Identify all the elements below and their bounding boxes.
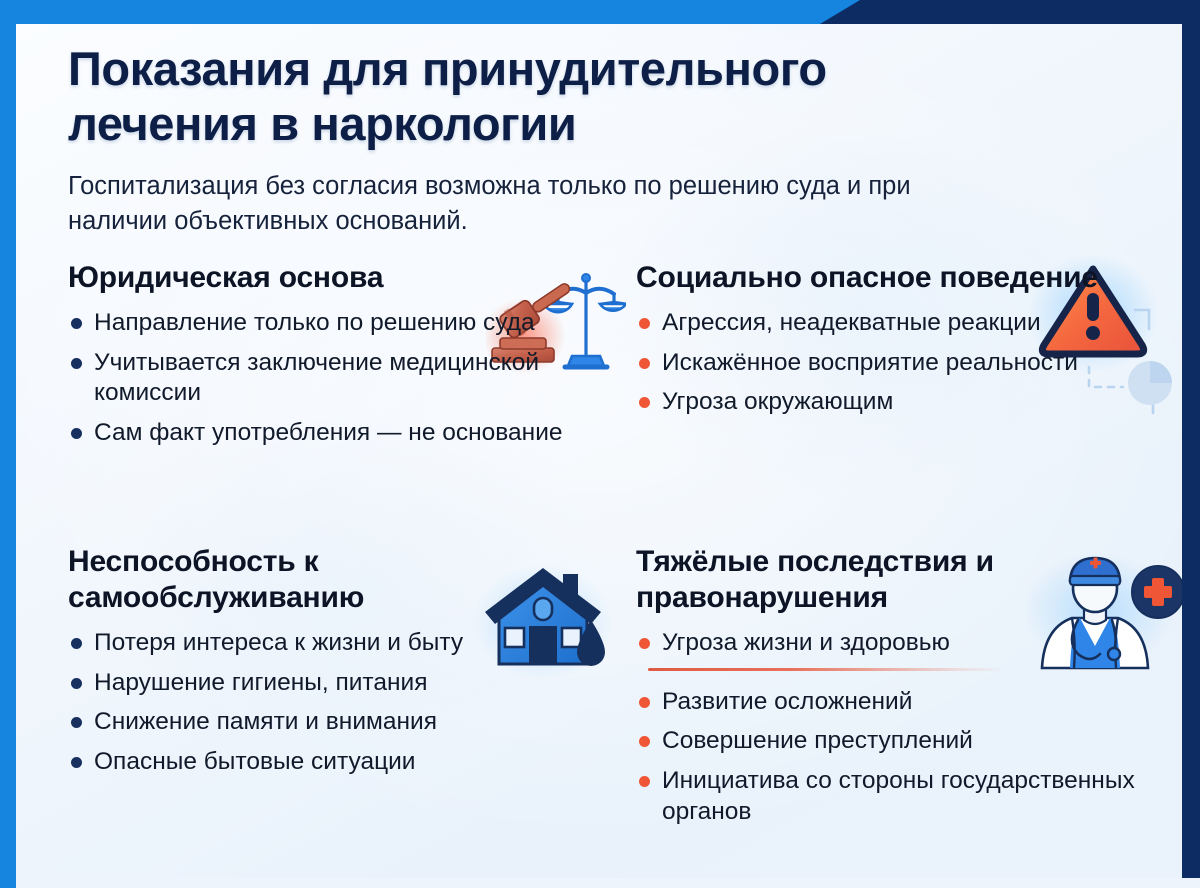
- section-divider: [648, 668, 1006, 671]
- section-bullet-list-continued: Развитие осложнений Совершение преступле…: [636, 687, 1176, 828]
- list-item: Развитие осложнений: [636, 687, 1176, 718]
- frame-top-accent-bar: [0, 0, 860, 24]
- list-item: Потеря интереса к жизни и быту: [68, 628, 588, 659]
- list-item: Направление только по решению суда: [68, 308, 588, 339]
- section-heading: Неспособность к самообслуживанию: [68, 544, 588, 616]
- section-bullet-list: Направление только по решению суда Учиты…: [68, 308, 588, 449]
- list-item: Инициатива со стороны государственных ор…: [636, 766, 1176, 827]
- frame-bottom-strip: [0, 878, 1200, 888]
- frame-bottom-left-accent: [0, 878, 16, 888]
- section-heading: Юридическая основа: [68, 260, 588, 296]
- list-item: Угроза окружающим: [636, 387, 1176, 418]
- list-item: Снижение памяти и внимания: [68, 707, 588, 738]
- section-bullet-list: Угроза жизни и здоровью: [636, 628, 1176, 659]
- section-bullet-list: Потеря интереса к жизни и быту Нарушение…: [68, 628, 588, 778]
- section-legal-basis: Юридическая основа Направление только по…: [68, 260, 588, 458]
- section-bullet-list: Агрессия, неадекватные реакции Искажённо…: [636, 308, 1176, 418]
- infographic-poster: Показания для принудительного лечения в …: [0, 0, 1200, 888]
- section-severe-consequences: Тяжёлые последствия и правонарушения Угр…: [636, 544, 1176, 836]
- page-subtitle: Госпитализация без согласия возможна тол…: [68, 169, 998, 239]
- page-title: Показания для принудительного лечения в …: [68, 42, 1028, 152]
- list-item: Совершение преступлений: [636, 726, 1176, 757]
- list-item: Агрессия, неадекватные реакции: [636, 308, 1176, 339]
- list-item: Угроза жизни и здоровью: [636, 628, 1176, 659]
- list-item: Учитывается заключение медицинской комис…: [68, 348, 588, 409]
- poster-card: Показания для принудительного лечения в …: [16, 24, 1182, 878]
- list-item: Нарушение гигиены, питания: [68, 668, 588, 699]
- list-item: Искажённое восприятие реальности: [636, 348, 1176, 379]
- section-heading: Тяжёлые последствия и правонарушения: [636, 544, 1176, 616]
- list-item: Сам факт употребления — не основание: [68, 418, 588, 449]
- section-self-care-inability: Неспособность к самообслуживанию Потеря …: [68, 544, 588, 787]
- list-item: Опасные бытовые ситуации: [68, 747, 588, 778]
- frame-left-accent-bar: [0, 0, 16, 888]
- section-dangerous-behaviour: Социально опасное поведение Агрессия, не…: [636, 260, 1176, 427]
- section-heading: Социально опасное поведение: [636, 260, 1176, 296]
